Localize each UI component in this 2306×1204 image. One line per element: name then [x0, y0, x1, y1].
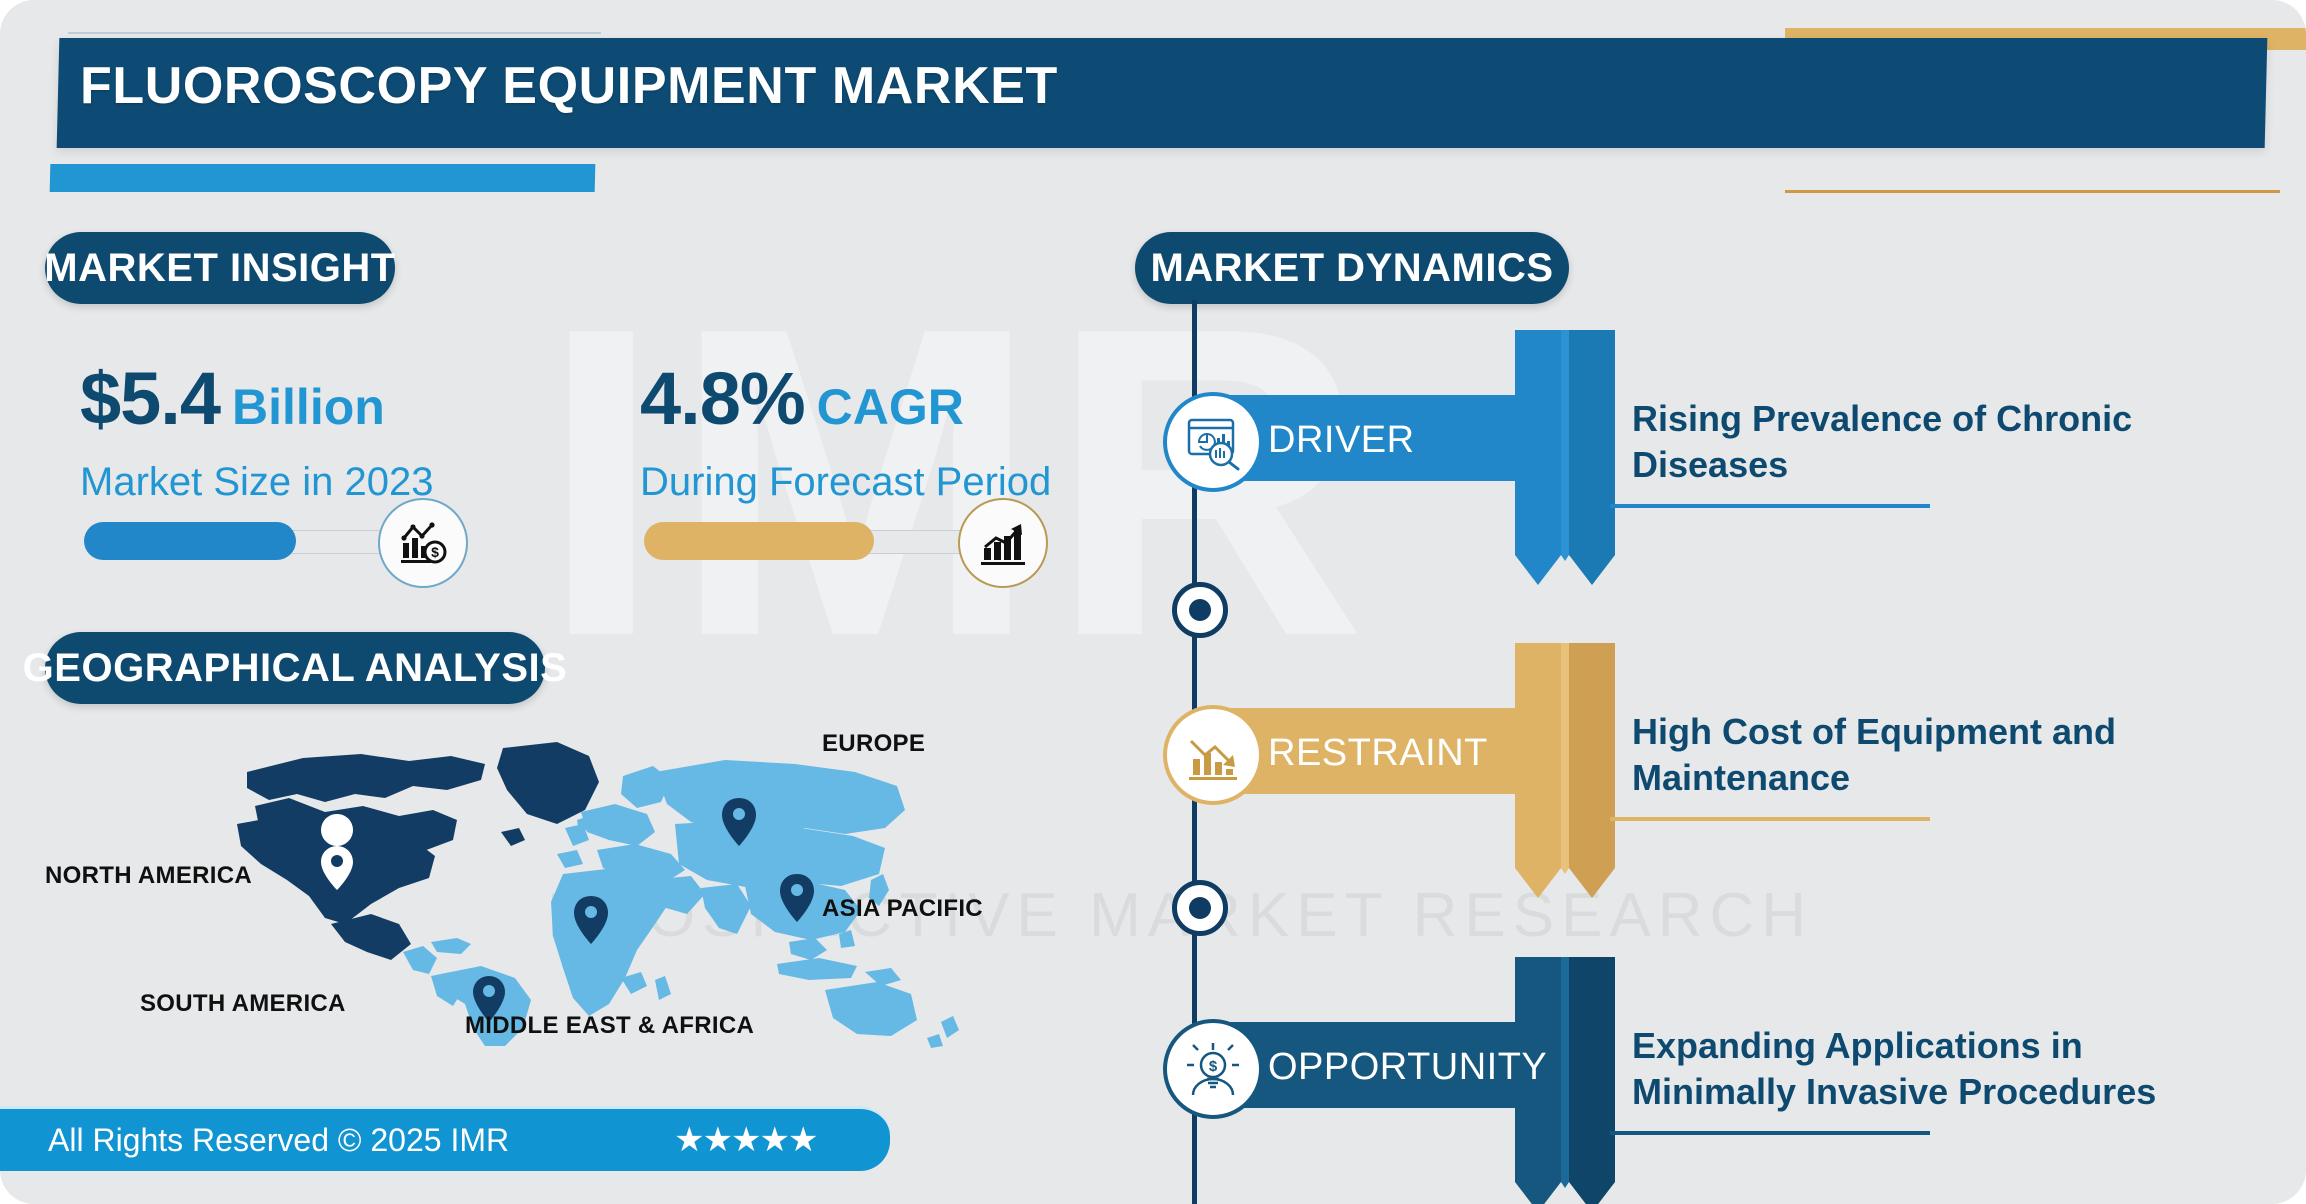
kpi-cagr: 4.8%CAGR During Forecast Period [640, 362, 1051, 505]
kpi-cagr-unit: CAGR [817, 379, 964, 435]
footer-star-rating: ★★★★★ [674, 1120, 816, 1160]
page-title: FLUOROSCOPY EQUIPMENT MARKET [80, 56, 1058, 116]
footer-bar: All Rights Reserved © 2025 IMR ★★★★★ [0, 1106, 890, 1171]
map-label-middle-east-africa: MIDDLE EAST & AFRICA [465, 1012, 754, 1040]
map-label-north-america: NORTH AMERICA [45, 862, 252, 890]
bar-chart-dollar-icon: $ [378, 498, 468, 588]
driver-rule [1610, 504, 1930, 508]
declining-bar-chart-icon [1163, 705, 1263, 805]
driver-text: Rising Prevalence of Chronic Diseases [1632, 396, 2192, 488]
section-pill-geographical-analysis: GEOGRAPHICAL ANALYSIS [45, 632, 545, 704]
opportunity-rule [1610, 1131, 1930, 1135]
progress-track-market-size [85, 530, 397, 554]
map-label-europe: EUROPE [822, 730, 925, 758]
progress-track-cagr [645, 530, 977, 554]
timeline-node-2 [1172, 880, 1228, 936]
footer-copyright: All Rights Reserved © 2025 IMR [48, 1122, 509, 1159]
opportunity-text: Expanding Applications in Minimally Inva… [1632, 1023, 2192, 1115]
svg-text:$: $ [1209, 1058, 1218, 1075]
svg-text:$: $ [431, 544, 439, 560]
header-accent-line-gold [1785, 190, 2280, 193]
kpi-market-size-caption: Market Size in 2023 [80, 460, 434, 505]
section-pill-market-dynamics: MARKET DYNAMICS [1135, 232, 1569, 304]
kpi-market-size-value: $5.4 [80, 357, 220, 440]
driver-label: DRIVER [1268, 419, 1415, 462]
progress-fill-cagr [644, 522, 874, 560]
header-accent-line-left [68, 32, 601, 34]
kpi-cagr-value: 4.8% [640, 357, 805, 440]
map-label-south-america: SOUTH AMERICA [140, 990, 346, 1018]
restraint-label: RESTRAINT [1268, 732, 1488, 775]
progress-fill-market-size [84, 522, 296, 560]
kpi-market-size: $5.4Billion Market Size in 2023 [80, 362, 434, 505]
infographic-canvas: IMR PROSPECTIVE MARKET RESEARCH FLUOROSC… [0, 0, 2306, 1204]
restraint-text: High Cost of Equipment and Maintenance [1632, 709, 2192, 801]
kpi-market-size-unit: Billion [232, 379, 385, 435]
header-underline-accent [50, 164, 596, 192]
map-label-asia-pacific: ASIA PACIFIC [822, 895, 983, 923]
restraint-rule [1610, 817, 1930, 821]
analytics-magnifier-icon [1163, 392, 1263, 492]
section-pill-market-insight: MARKET INSIGHT [45, 232, 395, 304]
timeline-node-1 [1172, 582, 1228, 638]
growth-arrow-chart-icon [958, 498, 1048, 588]
kpi-cagr-caption: During Forecast Period [640, 460, 1051, 505]
lightbulb-dollar-icon: $ [1163, 1019, 1263, 1119]
opportunity-label: OPPORTUNITY [1268, 1046, 1547, 1089]
